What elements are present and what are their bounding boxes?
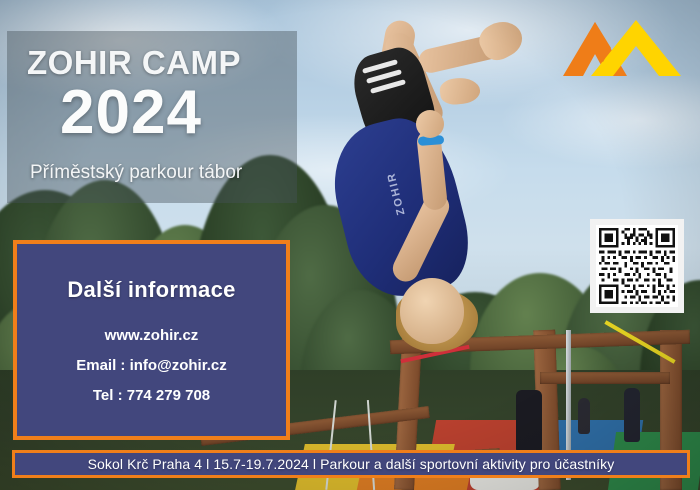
qr-code[interactable] — [590, 219, 684, 313]
info-phone[interactable]: Tel : 774 279 708 — [17, 387, 286, 404]
poster: ZOHIR — [0, 0, 700, 490]
title-year: 2024 — [60, 82, 202, 144]
info-website[interactable]: www.zohir.cz — [17, 327, 286, 344]
footer-bar: Sokol Krč Praha 4 l 15.7-19.7.2024 l Par… — [12, 450, 690, 478]
footer-text: Sokol Krč Praha 4 l 15.7-19.7.2024 l Par… — [88, 456, 615, 472]
info-heading: Další informace — [17, 277, 286, 303]
title-subtitle: Příměstský parkour tábor — [30, 162, 242, 184]
page-title: ZOHIR CAMP — [27, 44, 241, 82]
info-email[interactable]: Email : info@zohir.cz — [17, 357, 286, 374]
info-box: Další informace www.zohir.cz Email : inf… — [13, 240, 290, 440]
zohir-mountain-logo — [563, 18, 681, 80]
